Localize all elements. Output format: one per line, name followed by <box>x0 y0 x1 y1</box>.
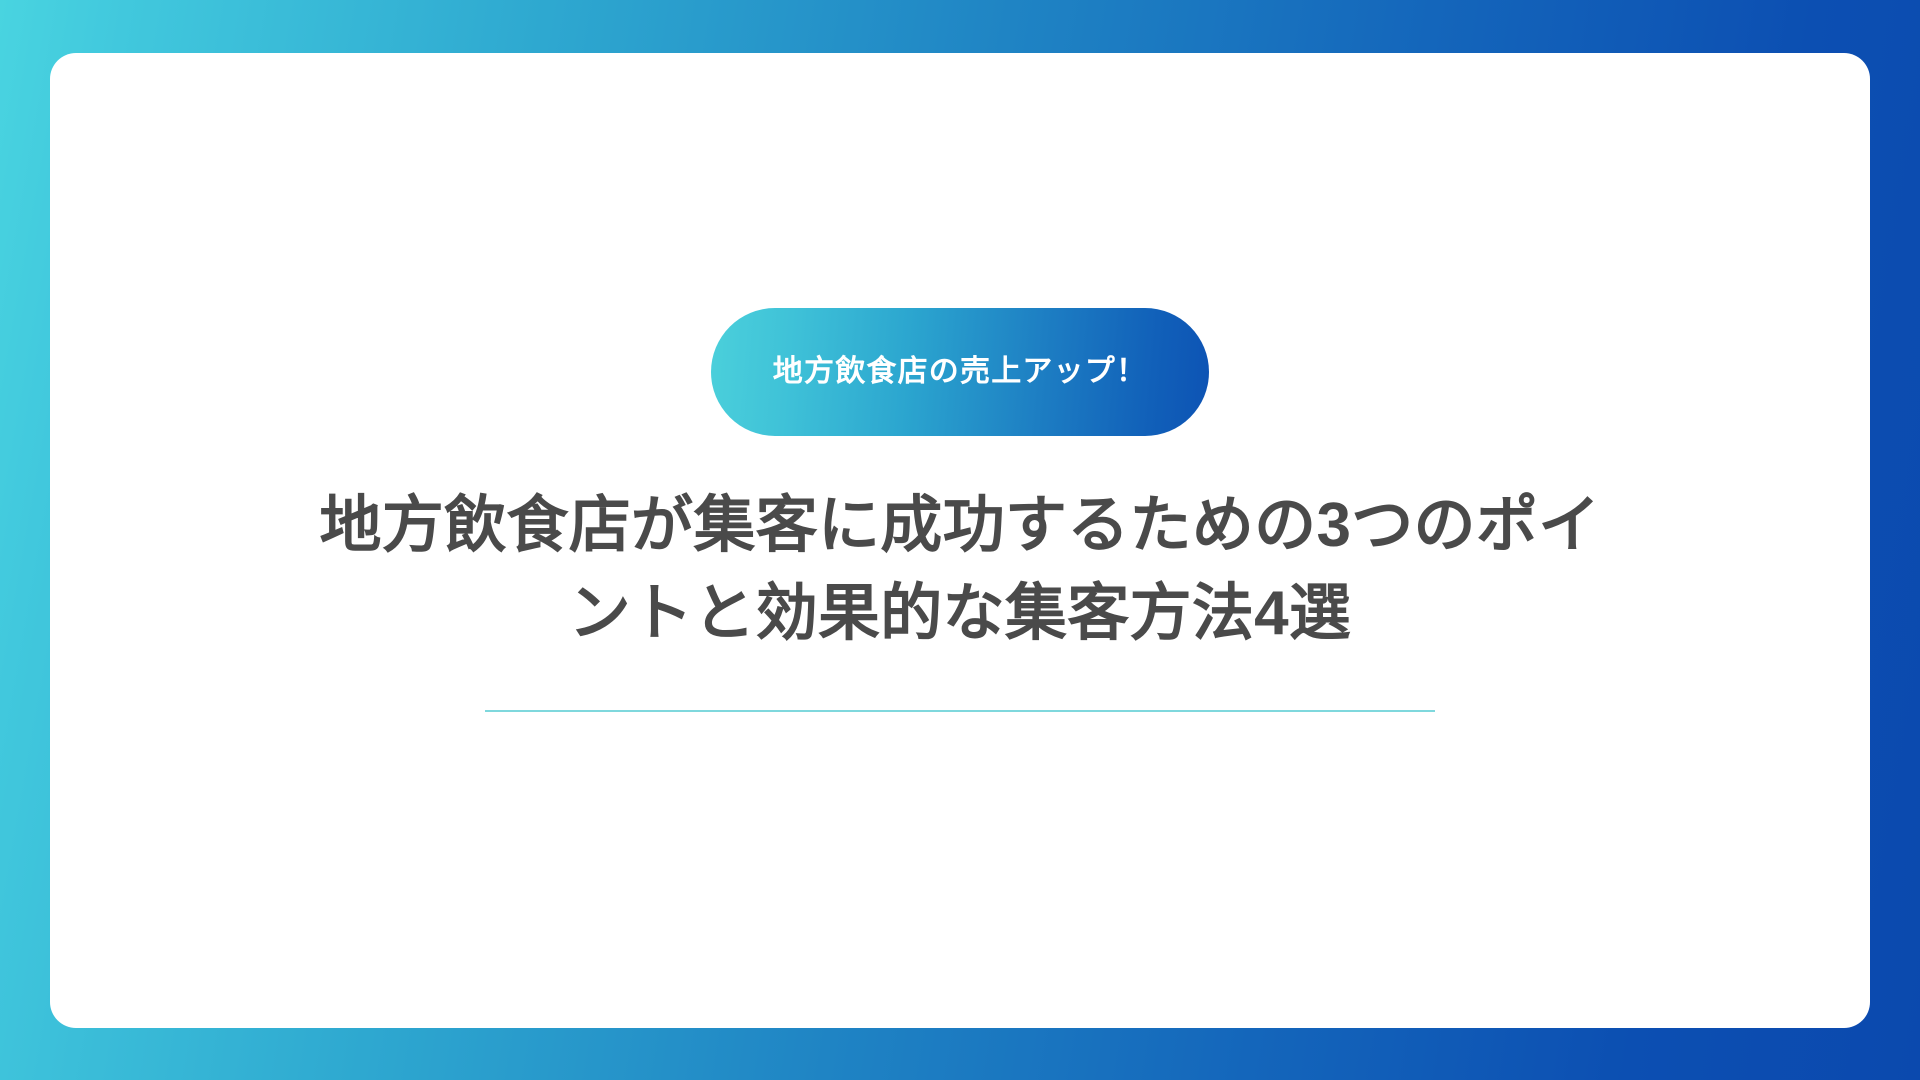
title-divider <box>485 710 1435 712</box>
page-title: 地方飲食店が集客に成功するための3つのポイントと効果的な集客方法4選 <box>295 482 1625 658</box>
category-badge: 地方飲食店の売上アップ！ <box>711 308 1209 436</box>
content-card: 地方飲食店の売上アップ！ 地方飲食店が集客に成功するための3つのポイントと効果的… <box>50 53 1870 1028</box>
category-badge-label: 地方飲食店の売上アップ！ <box>773 357 1147 387</box>
